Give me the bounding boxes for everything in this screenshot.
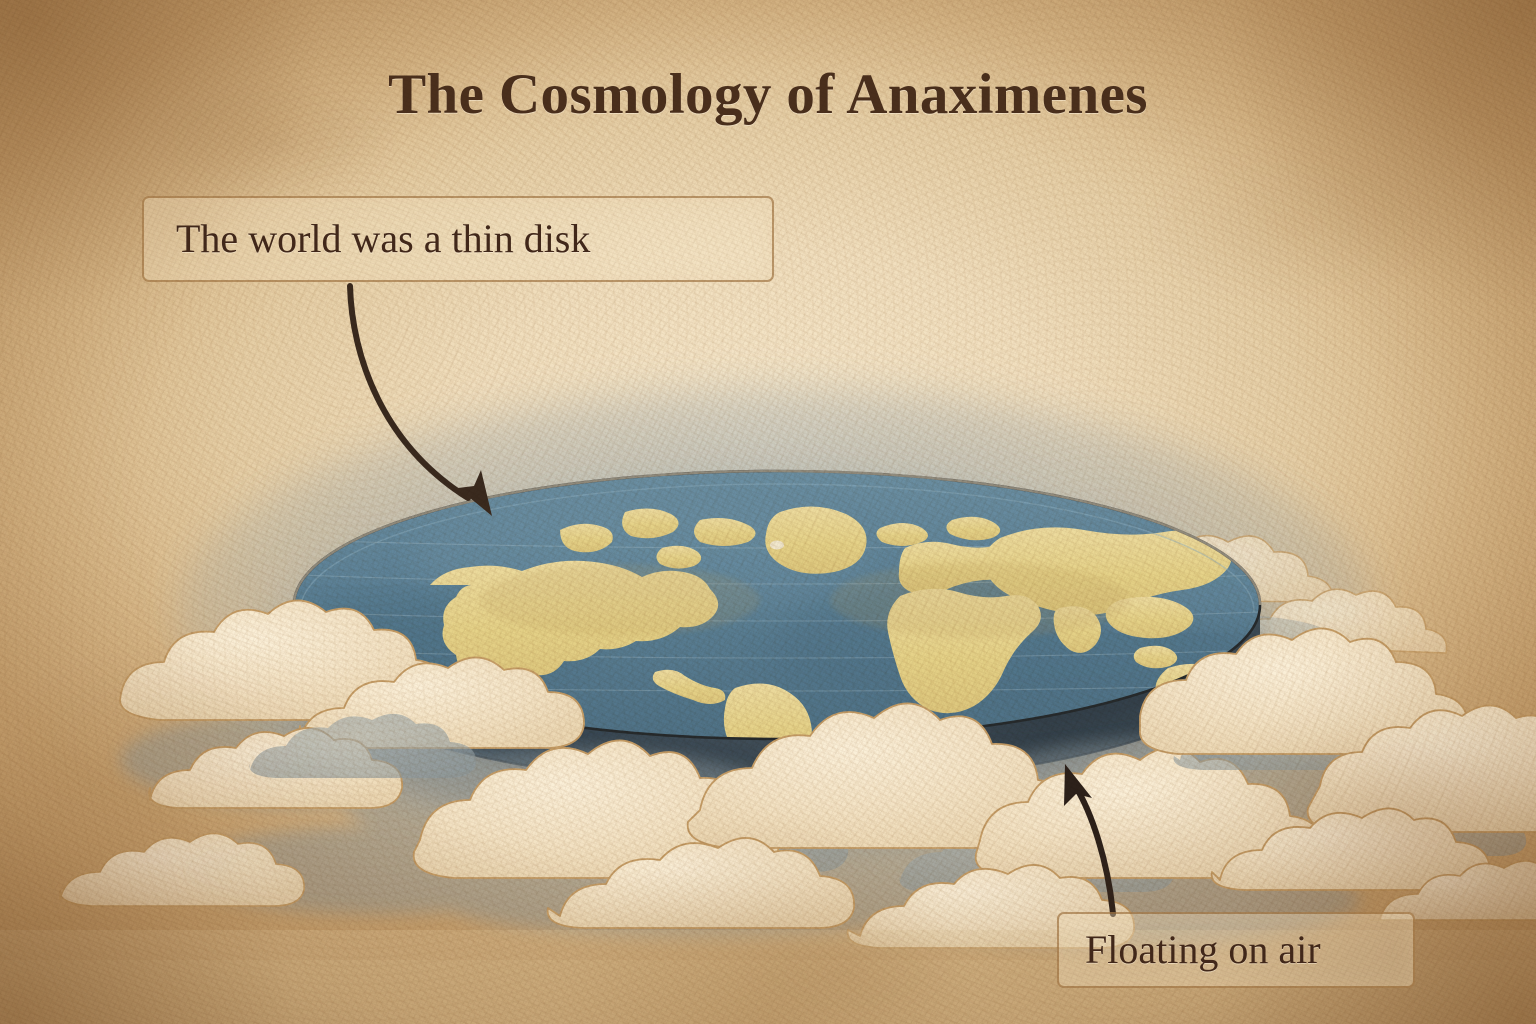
parchment-corner-darkening: [0, 0, 1536, 1024]
illustration-canvas: The Cosmology of Anaximenes The world wa…: [0, 0, 1536, 1024]
callout-box-air[interactable]: Floating on air: [1057, 912, 1415, 988]
callout-box-disk[interactable]: The world was a thin disk: [142, 196, 774, 282]
page-title: The Cosmology of Anaximenes: [0, 62, 1536, 127]
callout-label-air: Floating on air: [1085, 930, 1321, 970]
callout-label-disk: The world was a thin disk: [176, 219, 590, 259]
